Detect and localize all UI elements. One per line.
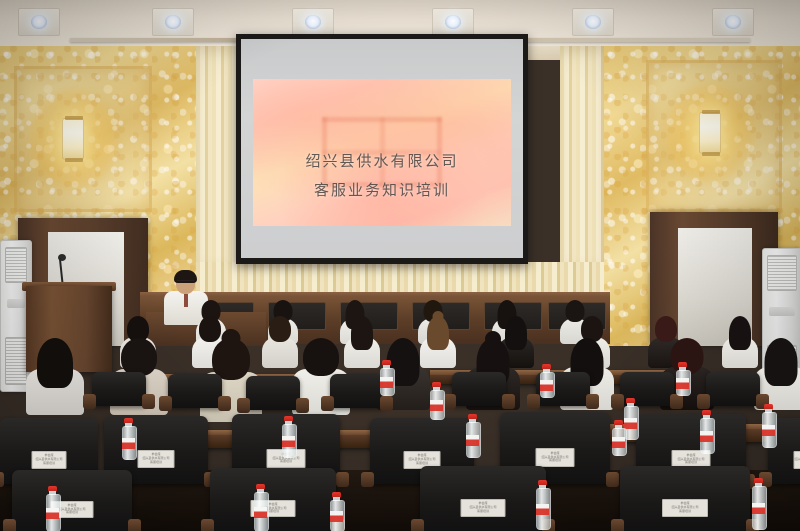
auditorium-seat[interactable]: 参会席 绍兴县供水有限公司 客服培训 [210,468,336,531]
ac-vent-grille [767,255,797,291]
ac-control-panel [7,299,25,308]
seat-placard: 参会席 绍兴县供水有限公司 客服培训 [32,451,67,469]
seat-armrest [411,519,424,531]
seat-placard-text: 参会席 绍兴县供水有限公司 客服培训 [677,454,704,465]
seat-placard-text: 参会席 绍兴县供水有限公司 客服培训 [58,504,85,515]
bottle-label [700,431,713,442]
seat-armrest [502,394,515,409]
water-bottle[interactable] [536,480,549,528]
seat-armrest [83,394,96,409]
water-bottle[interactable] [380,360,393,394]
ac-vent-grille [5,247,27,283]
bottle-label [466,435,479,446]
speaker-tie [184,294,188,307]
seat-placard-text: 参会席 绍兴县供水有限公司 客服培训 [142,453,169,464]
sconce-cap-top [702,110,720,114]
auditorium-seat[interactable]: 参会席 绍兴县供水有限公司 客服培训 [420,466,546,531]
sconce-cap-top [65,116,83,120]
bottle-label [612,437,625,448]
audience-hair [303,338,339,376]
sconce-cap-bottom [65,158,83,162]
seat-placard: 参会席 绍兴县供水有限公司 客服培训 [536,448,575,467]
wall-sconce-right [699,112,721,154]
bottle-label [282,436,295,447]
seat-placard-text: 参会席 绍兴县供水有限公司 客服培训 [35,454,62,465]
bottle-label [330,511,343,522]
audience-hair-bun [222,329,241,348]
seat-armrest [296,398,309,413]
audience-hair [729,316,751,350]
seat-armrest [321,396,334,411]
seat-placard: 参会席 绍兴县供水有限公司 客服培训 [794,451,800,469]
water-bottle[interactable] [700,410,713,452]
water-bottle[interactable] [254,484,267,530]
seat-placard: 参会席 绍兴县供水有限公司 客服培训 [662,499,708,517]
projected-slide: 绍兴县供水有限公司 客服业务知识培训 [253,79,511,226]
bottle-label [430,400,443,411]
water-bottle[interactable] [330,492,343,530]
audience-hair [37,338,73,388]
seat-armrest [159,396,172,411]
auditorium-seat[interactable] [168,374,222,408]
water-bottle[interactable] [122,418,135,458]
auditorium-seat[interactable]: 参会席 绍兴县供水有限公司 客服培训 [12,470,132,531]
bottle-label [380,377,393,388]
slide-line-2: 客服业务知识培训 [253,176,511,205]
audience-hair-bun [433,311,444,322]
seat-placard-text: 参会席 绍兴县供水有限公司 客服培训 [469,502,496,513]
seat-armrest [0,472,4,487]
bottle-label [752,503,765,514]
seat-placard-text: 参会席 绍兴县供水有限公司 客服培训 [671,502,698,513]
seat-placard: 参会席 绍兴县供水有限公司 客服培训 [138,450,175,468]
seat-armrest [611,519,624,531]
slide-text-block: 绍兴县供水有限公司 客服业务知识培训 [253,147,511,206]
bottle-label [254,507,267,518]
seat-armrest [527,394,540,409]
seat-armrest [670,394,683,409]
auditorium-seat[interactable] [452,372,506,406]
auditorium-seat[interactable] [246,376,300,410]
seat-armrest [697,394,710,409]
water-bottle[interactable] [540,364,553,396]
conference-room-photo: 绍兴县供水有限公司 客服业务知识培训 参会席 绍兴县供水有限公司 客服培训参会席… [0,0,800,531]
seat-armrest [380,396,393,411]
water-bottle[interactable] [282,416,295,456]
spotlight-6 [712,8,754,36]
spotlight-5 [572,8,614,36]
water-bottle[interactable] [466,414,479,456]
ribbed-panel-left [196,46,240,262]
bottle-label [676,378,689,389]
spotlight-4 [432,8,474,36]
spotlight-1 [18,8,60,36]
water-bottle[interactable] [752,478,765,528]
water-bottle[interactable] [430,382,443,418]
spotlight-2 [152,8,194,36]
audience-hair [121,338,157,376]
seat-armrest [606,472,619,487]
slide-line-1: 绍兴县供水有限公司 [253,147,511,176]
auditorium-seat[interactable] [92,372,146,406]
audience-hair [765,338,798,386]
auditorium-seat[interactable]: 参会席 绍兴县供水有限公司 客服培训 [620,466,750,531]
screen-surface: 绍兴县供水有限公司 客服业务知识培训 [241,39,523,258]
bottle-label [46,508,59,519]
water-bottle[interactable] [762,404,775,446]
spotlight-3 [292,8,334,36]
water-bottle[interactable] [676,362,689,394]
audience-member [26,338,84,412]
seat-armrest [361,472,374,487]
audience-hair [269,316,291,342]
seat-armrest [218,396,231,411]
auditorium-seat[interactable] [330,374,384,408]
bottle-label [624,418,637,429]
bottle-label [122,438,135,449]
seat-armrest [237,398,250,413]
bottle-label [540,380,553,391]
sconce-body [62,118,84,160]
seat-armrest [586,394,599,409]
ac-control-panel [769,307,795,316]
seat-armrest [611,394,624,409]
seat-armrest [142,394,155,409]
bottle-label [762,425,775,436]
audience-hair [351,316,373,350]
seat-placard: 参会席 绍兴县供水有限公司 客服培训 [461,499,506,517]
auditorium-seat[interactable] [706,372,760,406]
glasses-icon [177,280,194,285]
projection-screen: 绍兴县供水有限公司 客服业务知识培训 [236,34,528,264]
water-bottle[interactable] [46,486,59,530]
water-bottle[interactable] [612,420,625,454]
sconce-cap-bottom [702,152,720,156]
seat-placard-text: 参会席 绍兴县供水有限公司 客服培训 [408,454,435,465]
audience-hair-bun [485,331,501,347]
ribbed-panel-right [560,46,604,262]
seat-armrest [3,519,16,531]
seat-placard-text: 参会席 绍兴县供水有限公司 客服培训 [795,454,800,465]
ac-vent-grille [5,337,27,385]
seat-armrest [201,519,214,531]
wall-sconce-left [62,118,84,160]
seat-armrest [336,472,349,487]
bottle-label [536,504,549,515]
sconce-body [699,112,721,154]
seat-placard-text: 参会席 绍兴县供水有限公司 客服培训 [541,452,568,463]
seat-armrest [128,519,141,531]
audience-member [722,316,758,366]
